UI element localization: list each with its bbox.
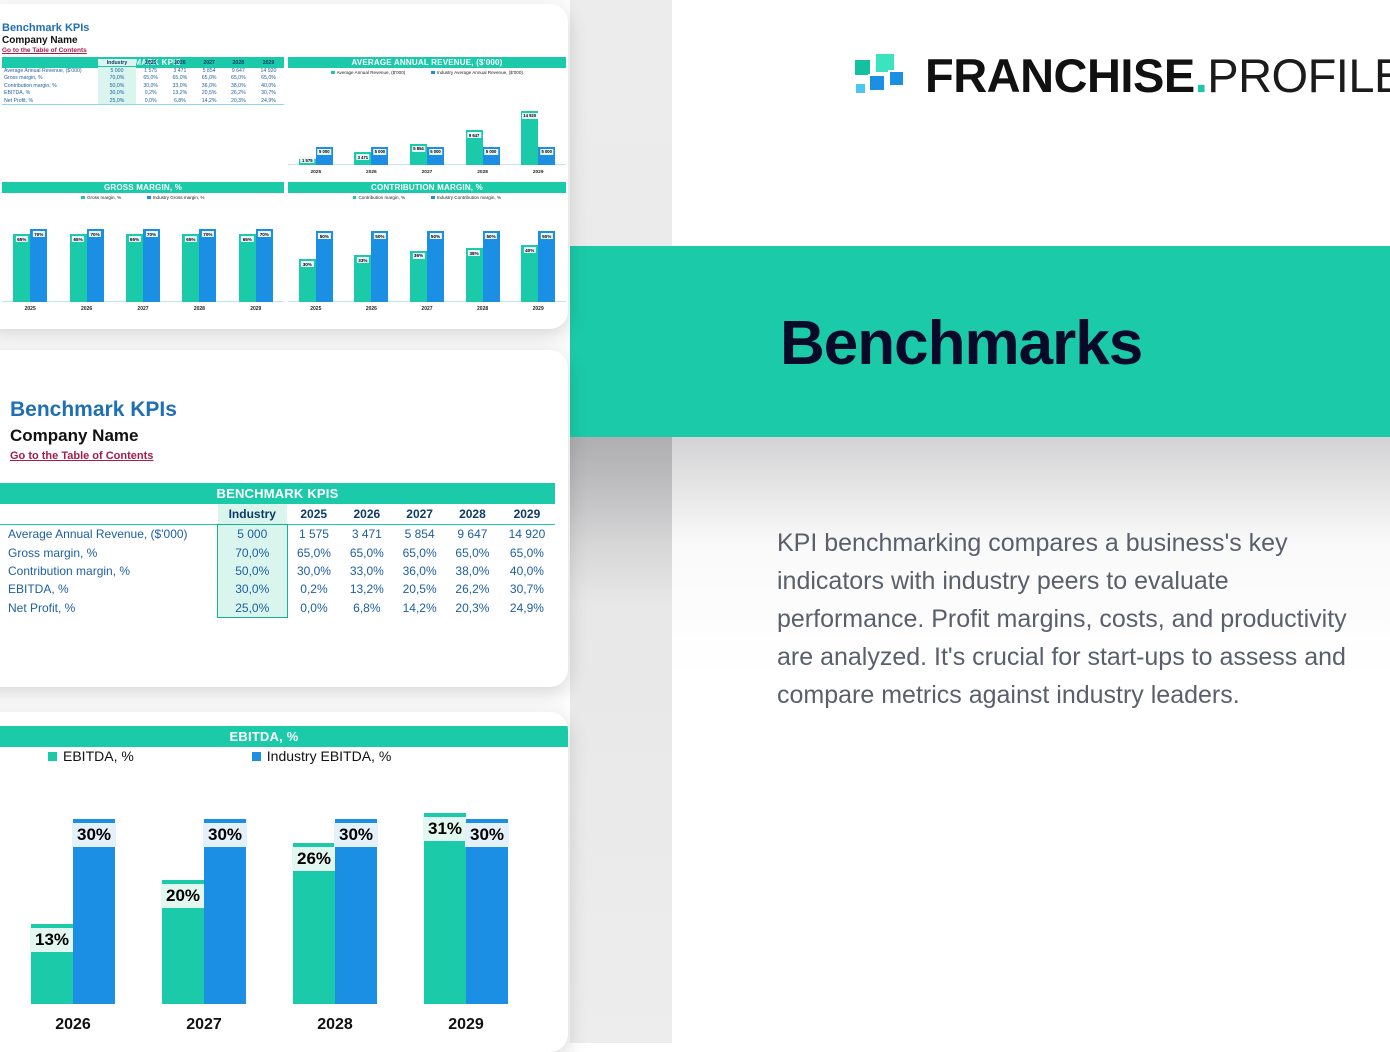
cell-y2026: 3 471	[165, 67, 194, 75]
bar: 70%	[87, 229, 104, 302]
mini-toc-link[interactable]: Go to the Table of Contents	[2, 47, 87, 54]
toc-link[interactable]: Go to the Table of Contents	[10, 450, 153, 462]
mini-sheet-heading: Benchmark KPIs	[2, 22, 89, 34]
bar-group: 14 9205 000	[521, 111, 555, 165]
cell-y2025: 65,0%	[287, 543, 340, 561]
bar-value-label: 20%	[161, 884, 205, 908]
x-axis-label: 2026	[344, 306, 400, 312]
benchmark-kpi-panel: BENCHMARK KPIS Industry 2025 2026 2027 2…	[0, 483, 555, 618]
bar: 9 647	[466, 130, 483, 165]
table-row: Net Profit, %25,0%0,0%6,8%14,2%20,3%24,9…	[0, 599, 555, 618]
bar: 65%	[239, 234, 256, 302]
row-label: EBITDA, %	[0, 580, 218, 598]
ebitda-chart-legend: EBITDA, % Industry EBITDA, %	[0, 748, 568, 764]
cell-y2028: 20,3%	[224, 97, 253, 105]
table-row: Contribution margin, %50,0%30,0%33,0%36,…	[0, 562, 555, 580]
mini-col-2025: 2025	[136, 59, 165, 67]
cell-y2028: 65,0%	[224, 75, 253, 82]
brand-name-light: PROFILES	[1207, 49, 1390, 102]
bar: 5 000	[371, 147, 388, 165]
bar-value-label: 5 000	[318, 149, 331, 155]
cell-y2025: 0,2%	[136, 90, 165, 97]
cell-industry: 30,0%	[98, 90, 136, 97]
bar: 5 000	[538, 147, 555, 165]
cell-y2029: 40,0%	[253, 82, 284, 89]
sheet-heading: Benchmark KPIs	[10, 398, 177, 422]
bar-group: 38%50%	[466, 231, 500, 302]
bar: 50%	[371, 231, 388, 302]
cell-y2029: 65,0%	[253, 75, 284, 82]
squares-logo-icon	[853, 52, 909, 100]
bar-value-label: 70%	[33, 231, 45, 237]
cell-y2025: 65,0%	[136, 75, 165, 82]
ebitda-chart-title: EBITDA, %	[0, 726, 568, 747]
bar-value-label: 30%	[301, 261, 313, 267]
x-axis-label: 2027	[399, 170, 455, 175]
bar: 26%	[293, 843, 335, 1004]
benchmark-sheet: Benchmark KPIs Company Name Go to the Ta…	[0, 350, 568, 687]
legend-label: EBITDA, %	[63, 748, 134, 764]
cell-y2027: 36,0%	[195, 82, 224, 89]
x-axis-label: 2028	[281, 1016, 389, 1034]
table-row: EBITDA, %30,0%0,2%13,2%20,5%26,2%30,7%	[0, 580, 555, 598]
mini-sheet: Benchmark KPIs Company Name Go to the Ta…	[0, 4, 568, 329]
cell-y2028: 9 647	[224, 67, 253, 75]
cell-y2025: 30,0%	[136, 82, 165, 89]
bar: 31%	[424, 813, 466, 1004]
x-axis-label: 2029	[510, 170, 566, 175]
bar: 30%	[335, 819, 377, 1004]
screenshot-card-table[interactable]: Benchmark KPIs Company Name Go to the Ta…	[0, 350, 568, 687]
bar-group: 3 4715 000	[354, 147, 388, 165]
table-row: EBITDA, %30,0%0,2%13,2%20,5%26,2%30,7%	[2, 90, 284, 97]
cell-y2028: 20,3%	[446, 599, 499, 618]
bar-value-label: 5 000	[429, 149, 442, 155]
bar: 65%	[13, 234, 30, 302]
bar: 70%	[256, 229, 273, 302]
bar-group: 33%50%	[354, 231, 388, 302]
brand-logo: FRANCHISE.PROFILES	[853, 44, 1353, 116]
bar-group: 65%70%	[182, 229, 216, 302]
cell-y2028: 65,0%	[446, 543, 499, 561]
bar-value-label: 50%	[429, 233, 441, 239]
bar: 13%	[31, 924, 73, 1004]
bar: 50%	[427, 231, 444, 302]
table-row: Average Annual Revenue, ($'000)5 0001 57…	[2, 67, 284, 75]
mini-chart-revenue-title: AVERAGE ANNUAL REVENUE, ($'000)	[288, 57, 566, 68]
bar-value-label: 31%	[423, 817, 467, 841]
cell-y2027: 14,2%	[195, 97, 224, 105]
cell-y2026: 65,0%	[165, 75, 194, 82]
mini-chart-contrib-title: CONTRIBUTION MARGIN, %	[288, 182, 566, 193]
col-2027: 2027	[393, 504, 446, 525]
cell-industry: 5 000	[98, 67, 136, 75]
cell-y2028: 26,2%	[446, 580, 499, 598]
mini-chart-contribution-margin: CONTRIBUTION MARGIN, % Contribution marg…	[288, 182, 566, 312]
row-label: Gross margin, %	[0, 543, 218, 561]
mini-col-2027: 2027	[195, 59, 224, 67]
bar-value-label: 50%	[318, 233, 330, 239]
bar: 20%	[162, 880, 204, 1004]
bar-value-label: 9 647	[467, 132, 480, 138]
cell-y2029: 30,7%	[499, 580, 555, 598]
bar-group: 20%30%	[162, 819, 246, 1004]
bar: 30%	[466, 819, 508, 1004]
x-axis-label: 2029	[228, 306, 284, 312]
bar-value-label: 50%	[485, 233, 497, 239]
row-label: Contribution margin, %	[0, 562, 218, 580]
cell-y2028: 38,0%	[224, 82, 253, 89]
x-axis-label: 2025	[2, 306, 58, 312]
bar: 50%	[316, 231, 333, 302]
bar-value-label: 30%	[72, 823, 116, 847]
bar-value-label: 40%	[524, 247, 536, 253]
cell-y2027: 65,0%	[195, 75, 224, 82]
bar: 70%	[199, 229, 216, 302]
x-axis-label: 2028	[455, 170, 511, 175]
mini-kpi-table: Industry 2025 2026 2027 2028 2029 Averag…	[2, 59, 284, 105]
bar-value-label: 50%	[541, 233, 553, 239]
bar: 30%	[299, 259, 316, 302]
cell-industry: 25,0%	[98, 97, 136, 105]
bar-value-label: 36%	[412, 253, 424, 259]
cell-y2026: 33,0%	[165, 82, 194, 89]
row-label: Net Profit, %	[2, 97, 98, 105]
bar: 30%	[204, 819, 246, 1004]
cell-industry: 25,0%	[218, 599, 288, 618]
background-shadow-gradient-band	[570, 437, 672, 737]
cell-industry: 5 000	[218, 525, 288, 544]
cell-y2029: 14 920	[253, 67, 284, 75]
brand-name-bold: FRANCHISE	[925, 49, 1195, 102]
sheet-company: Company Name	[10, 426, 138, 446]
bar-value-label: 65%	[72, 236, 84, 242]
cell-y2028: 26,2%	[224, 90, 253, 97]
x-axis-label: 2025	[288, 170, 344, 175]
row-label: Contribution margin, %	[2, 82, 98, 89]
bar: 3 471	[354, 152, 371, 165]
cell-y2025: 1 575	[287, 525, 340, 544]
bar-value-label: 65%	[185, 236, 197, 242]
x-axis-label: 2027	[399, 306, 455, 312]
cell-industry: 50,0%	[98, 82, 136, 89]
bar-value-label: 70%	[89, 231, 101, 237]
row-label: Gross margin, %	[2, 75, 98, 82]
bar-group: 65%70%	[126, 229, 160, 302]
table-row: Gross margin, %70,0%65,0%65,0%65,0%65,0%…	[0, 543, 555, 561]
row-label: EBITDA, %	[2, 90, 98, 97]
bar-group: 5 8545 000	[410, 144, 444, 165]
col-2028: 2028	[446, 504, 499, 525]
bar-value-label: 65%	[16, 236, 28, 242]
mini-col-2028: 2028	[224, 59, 253, 67]
bar: 50%	[538, 231, 555, 302]
bar-group: 13%30%	[31, 819, 115, 1004]
description-paragraph: KPI benchmarking compares a business's k…	[777, 524, 1352, 714]
bar-value-label: 70%	[202, 231, 214, 237]
table-row: Contribution margin, %50,0%30,0%33,0%36,…	[2, 82, 284, 89]
x-axis-label: 2026	[344, 170, 400, 175]
bar-value-label: 14 920	[522, 113, 538, 119]
bar-value-label: 70%	[145, 231, 157, 237]
bar-value-label: 5 000	[484, 149, 497, 155]
bar-value-label: 5 000	[540, 149, 553, 155]
bar: 38%	[466, 248, 483, 302]
bar-value-label: 50%	[374, 233, 386, 239]
cell-y2025: 0,0%	[287, 599, 340, 618]
bar-value-label: 1 575	[301, 157, 314, 163]
col-2029: 2029	[499, 504, 555, 525]
mini-chart-gross-title: GROSS MARGIN, %	[2, 182, 284, 193]
bar: 50%	[483, 231, 500, 302]
cell-y2027: 65,0%	[393, 543, 446, 561]
bar-value-label: 5 000	[373, 149, 386, 155]
x-axis-label: 2027	[150, 1016, 258, 1034]
bar: 5 000	[316, 147, 333, 165]
cell-y2029: 14 920	[499, 525, 555, 544]
cell-y2026: 13,2%	[340, 580, 393, 598]
screenshot-card-overview[interactable]: Benchmark KPIs Company Name Go to the Ta…	[0, 4, 568, 329]
bar-group: 31%30%	[424, 813, 508, 1004]
ebitda-chart: EBITDA, % EBITDA, % Industry EBITDA, % 3…	[0, 712, 568, 1052]
cell-industry: 70,0%	[98, 75, 136, 82]
bar: 5 000	[427, 147, 444, 165]
cell-y2026: 6,8%	[165, 97, 194, 105]
table-row: Net Profit, %25,0%0,0%6,8%14,2%20,3%24,9…	[2, 97, 284, 105]
table-row: Average Annual Revenue, ($'000)5 0001 57…	[0, 525, 555, 544]
row-label: Average Annual Revenue, ($'000)	[0, 525, 218, 544]
bar-value-label: 30%	[465, 823, 509, 847]
table-row: Gross margin, %70,0%65,0%65,0%65,0%65,0%…	[2, 75, 284, 82]
cell-y2027: 36,0%	[393, 562, 446, 580]
col-2025: 2025	[287, 504, 340, 525]
x-axis-label: 2029	[412, 1016, 520, 1034]
row-label: Net Profit, %	[0, 599, 218, 618]
x-axis-label: 2025	[288, 306, 344, 312]
cell-industry: 50,0%	[218, 562, 288, 580]
bar-value-label: 65%	[128, 236, 140, 242]
bar-value-label: 26%	[292, 847, 336, 871]
cell-y2029: 30,7%	[253, 90, 284, 97]
cell-y2029: 24,9%	[499, 599, 555, 618]
bar: 70%	[30, 229, 47, 302]
x-axis-label: 2028	[455, 306, 511, 312]
col-industry: Industry	[218, 504, 288, 525]
x-axis-label: 2026	[58, 306, 114, 312]
cell-y2025: 30,0%	[287, 562, 340, 580]
x-axis-label: 2029	[510, 306, 566, 312]
bar: 14 920	[521, 111, 538, 165]
bar-group: 9 6475 000	[466, 130, 500, 165]
bar: 65%	[182, 234, 199, 302]
row-label: Average Annual Revenue, ($'000)	[2, 67, 98, 75]
cell-y2029: 40,0%	[499, 562, 555, 580]
mini-sheet-company: Company Name	[2, 35, 78, 46]
brand-name-dot: .	[1195, 49, 1208, 102]
mini-chart-revenue: AVERAGE ANNUAL REVENUE, ($'000) Average …	[288, 57, 566, 177]
bar-group: 65%70%	[13, 229, 47, 302]
cell-y2025: 0,0%	[136, 97, 165, 105]
bar-group: 65%70%	[239, 229, 273, 302]
bar: 5 000	[483, 147, 500, 165]
bar: 30%	[73, 819, 115, 1004]
bar-group: 40%50%	[521, 231, 555, 302]
benchmark-kpi-table: Industry 2025 2026 2027 2028 2029 Averag…	[0, 504, 555, 618]
cell-industry: 70,0%	[218, 543, 288, 561]
mini-chart-gross-margin: GROSS MARGIN, % Gross margin, % Industry…	[2, 182, 284, 312]
x-axis-label: 2026	[19, 1016, 127, 1034]
cell-y2025: 1 575	[136, 67, 165, 75]
x-axis-label: 2028	[171, 306, 227, 312]
bar-value-label: 30%	[203, 823, 247, 847]
cell-y2027: 20,5%	[393, 580, 446, 598]
bar: 1 575	[299, 159, 316, 165]
mini-col-2026: 2026	[165, 59, 194, 67]
cell-y2027: 14,2%	[393, 599, 446, 618]
benchmark-table-title: BENCHMARK KPIS	[0, 483, 555, 504]
cell-y2025: 0,2%	[287, 580, 340, 598]
bar-group: 36%50%	[410, 231, 444, 302]
page-title: Benchmarks	[780, 306, 1380, 386]
bar: 70%	[143, 229, 160, 302]
bar-value-label: 30%	[334, 823, 378, 847]
bar-value-label: 65%	[241, 236, 253, 242]
bar-value-label: 13%	[30, 928, 74, 952]
cell-y2027: 5 854	[195, 67, 224, 75]
cell-y2028: 9 647	[446, 525, 499, 544]
ebitda-plot-area: 30%202513%30%202620%30%202726%30%202831%…	[0, 774, 568, 1052]
bar: 33%	[354, 255, 371, 302]
cell-y2028: 38,0%	[446, 562, 499, 580]
bar: 5 854	[410, 144, 427, 165]
cell-y2026: 13,2%	[165, 90, 194, 97]
bar-value-label: 38%	[468, 250, 480, 256]
cell-industry: 30,0%	[218, 580, 288, 598]
legend-label: Industry EBITDA, %	[267, 748, 391, 764]
cell-y2027: 5 854	[393, 525, 446, 544]
bar-value-label: 5 854	[412, 146, 425, 152]
bar-group: 26%30%	[293, 819, 377, 1004]
mini-col-industry: Industry	[98, 59, 136, 67]
mini-col-2029: 2029	[253, 59, 284, 67]
cell-y2026: 65,0%	[340, 543, 393, 561]
bar-group: 1 5755 000	[299, 147, 333, 165]
screenshot-card-ebitda[interactable]: EBITDA, % EBITDA, % Industry EBITDA, % 3…	[0, 712, 568, 1052]
cell-y2029: 65,0%	[499, 543, 555, 561]
cell-y2026: 3 471	[340, 525, 393, 544]
cell-y2029: 24,9%	[253, 97, 284, 105]
bar-value-label: 33%	[357, 257, 369, 263]
bar-group: 65%70%	[70, 229, 104, 302]
brand-wordmark: FRANCHISE.PROFILES	[925, 47, 1390, 105]
cell-y2026: 33,0%	[340, 562, 393, 580]
bar-value-label: 70%	[258, 231, 270, 237]
col-2026: 2026	[340, 504, 393, 525]
cell-y2027: 20,5%	[195, 90, 224, 97]
cell-y2026: 6,8%	[340, 599, 393, 618]
bar-group: 30%50%	[299, 231, 333, 302]
bar: 36%	[410, 251, 427, 302]
bar: 65%	[70, 234, 87, 302]
x-axis-label: 2027	[115, 306, 171, 312]
bar: 65%	[126, 234, 143, 302]
bar: 40%	[521, 245, 538, 302]
bar-value-label: 3 471	[356, 154, 369, 160]
